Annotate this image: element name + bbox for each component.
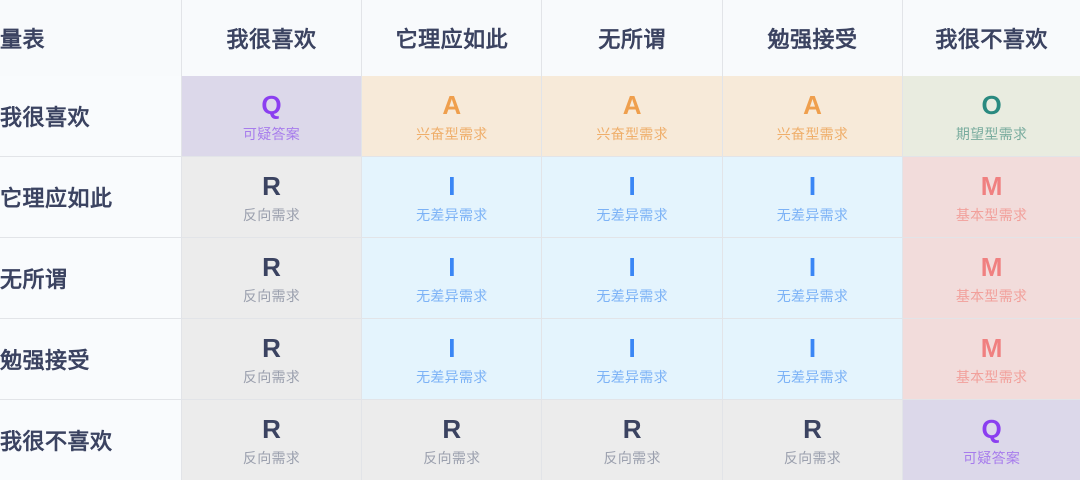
table-body: 我很喜欢Q可疑答案A兴奋型需求A兴奋型需求A兴奋型需求O期望型需求它理应如此R反… bbox=[0, 76, 1080, 480]
column-header-2: 它理应如此 bbox=[362, 0, 542, 76]
matrix-cell-r3-c2: I无差异需求 bbox=[362, 238, 542, 319]
matrix-cell-r2-c5: M基本型需求 bbox=[903, 157, 1080, 238]
category-letter: R bbox=[803, 416, 822, 442]
category-description: 无差异需求 bbox=[596, 208, 668, 222]
category-letter: M bbox=[981, 254, 1003, 280]
category-description: 反向需求 bbox=[423, 451, 480, 465]
cell-content: M基本型需求 bbox=[903, 319, 1080, 399]
category-description: 无差异需求 bbox=[777, 370, 849, 384]
table-row: 勉强接受R反向需求I无差异需求I无差异需求I无差异需求M基本型需求 bbox=[0, 319, 1080, 400]
matrix-cell-r3-c5: M基本型需求 bbox=[903, 238, 1080, 319]
matrix-cell-r3-c4: I无差异需求 bbox=[722, 238, 902, 319]
column-header-5: 我很不喜欢 bbox=[903, 0, 1080, 76]
category-letter: M bbox=[981, 173, 1003, 199]
category-description: 反向需求 bbox=[243, 370, 300, 384]
category-letter: R bbox=[262, 173, 281, 199]
category-letter: A bbox=[803, 92, 822, 118]
row-header-3: 无所谓 bbox=[0, 238, 181, 319]
cell-content: I无差异需求 bbox=[542, 157, 721, 237]
cell-content: I无差异需求 bbox=[362, 157, 541, 237]
category-description: 无差异需求 bbox=[777, 289, 849, 303]
row-header-5: 我很不喜欢 bbox=[0, 400, 181, 480]
matrix-cell-r3-c3: I无差异需求 bbox=[542, 238, 722, 319]
category-description: 无差异需求 bbox=[777, 208, 849, 222]
cell-content: A兴奋型需求 bbox=[723, 76, 902, 156]
matrix-cell-r5-c5: Q可疑答案 bbox=[903, 400, 1080, 480]
category-letter: O bbox=[981, 92, 1001, 118]
cell-content: R反向需求 bbox=[182, 238, 361, 318]
cell-content: A兴奋型需求 bbox=[362, 76, 541, 156]
category-description: 基本型需求 bbox=[956, 208, 1028, 222]
category-letter: Q bbox=[261, 92, 281, 118]
matrix-cell-r1-c1: Q可疑答案 bbox=[181, 76, 361, 157]
matrix-cell-r2-c3: I无差异需求 bbox=[542, 157, 722, 238]
table-corner-label: 量表 bbox=[0, 0, 181, 76]
category-letter: R bbox=[262, 335, 281, 361]
cell-content: R反向需求 bbox=[182, 157, 361, 237]
category-letter: R bbox=[262, 254, 281, 280]
cell-content: Q可疑答案 bbox=[182, 76, 361, 156]
category-letter: M bbox=[981, 335, 1003, 361]
category-description: 无差异需求 bbox=[416, 370, 488, 384]
category-letter: I bbox=[448, 335, 455, 361]
category-description: 反向需求 bbox=[243, 289, 300, 303]
matrix-cell-r2-c2: I无差异需求 bbox=[362, 157, 542, 238]
header-row: 量表 我很喜欢 它理应如此 无所谓 勉强接受 我很不喜欢 bbox=[0, 0, 1080, 76]
row-header-4: 勉强接受 bbox=[0, 319, 181, 400]
matrix-cell-r1-c2: A兴奋型需求 bbox=[362, 76, 542, 157]
category-letter: R bbox=[262, 416, 281, 442]
category-description: 兴奋型需求 bbox=[416, 127, 488, 141]
column-header-4: 勉强接受 bbox=[722, 0, 902, 76]
category-description: 可疑答案 bbox=[243, 127, 300, 141]
cell-content: I无差异需求 bbox=[542, 238, 721, 318]
cell-content: M基本型需求 bbox=[903, 157, 1080, 237]
row-header-1: 我很喜欢 bbox=[0, 76, 181, 157]
cell-content: I无差异需求 bbox=[723, 157, 902, 237]
category-letter: Q bbox=[981, 416, 1001, 442]
category-description: 反向需求 bbox=[784, 451, 841, 465]
matrix-cell-r2-c1: R反向需求 bbox=[181, 157, 361, 238]
matrix-cell-r4-c5: M基本型需求 bbox=[903, 319, 1080, 400]
category-letter: I bbox=[448, 254, 455, 280]
category-letter: A bbox=[442, 92, 461, 118]
column-header-3: 无所谓 bbox=[542, 0, 722, 76]
cell-content: O期望型需求 bbox=[903, 76, 1080, 156]
table-row: 我很喜欢Q可疑答案A兴奋型需求A兴奋型需求A兴奋型需求O期望型需求 bbox=[0, 76, 1080, 157]
matrix-cell-r1-c3: A兴奋型需求 bbox=[542, 76, 722, 157]
table-header: 量表 我很喜欢 它理应如此 无所谓 勉强接受 我很不喜欢 bbox=[0, 0, 1080, 76]
category-letter: I bbox=[448, 173, 455, 199]
cell-content: I无差异需求 bbox=[723, 238, 902, 318]
matrix-cell-r1-c4: A兴奋型需求 bbox=[722, 76, 902, 157]
category-description: 无差异需求 bbox=[596, 289, 668, 303]
table-row: 无所谓R反向需求I无差异需求I无差异需求I无差异需求M基本型需求 bbox=[0, 238, 1080, 319]
matrix-cell-r5-c1: R反向需求 bbox=[181, 400, 361, 480]
category-description: 基本型需求 bbox=[956, 289, 1028, 303]
table-row: 我很不喜欢R反向需求R反向需求R反向需求R反向需求Q可疑答案 bbox=[0, 400, 1080, 480]
matrix-cell-r5-c2: R反向需求 bbox=[362, 400, 542, 480]
category-letter: I bbox=[809, 335, 816, 361]
category-letter: I bbox=[629, 335, 636, 361]
cell-content: Q可疑答案 bbox=[903, 400, 1080, 480]
cell-content: R反向需求 bbox=[542, 400, 721, 480]
category-description: 无差异需求 bbox=[596, 370, 668, 384]
cell-content: R反向需求 bbox=[182, 319, 361, 399]
category-letter: I bbox=[809, 173, 816, 199]
cell-content: I无差异需求 bbox=[362, 319, 541, 399]
category-letter: I bbox=[629, 254, 636, 280]
category-description: 兴奋型需求 bbox=[596, 127, 668, 141]
matrix-cell-r5-c4: R反向需求 bbox=[722, 400, 902, 480]
category-description: 无差异需求 bbox=[416, 289, 488, 303]
category-letter: I bbox=[809, 254, 816, 280]
category-description: 兴奋型需求 bbox=[777, 127, 849, 141]
category-description: 无差异需求 bbox=[416, 208, 488, 222]
category-description: 可疑答案 bbox=[963, 451, 1020, 465]
category-letter: R bbox=[442, 416, 461, 442]
cell-content: I无差异需求 bbox=[542, 319, 721, 399]
matrix-cell-r4-c2: I无差异需求 bbox=[362, 319, 542, 400]
cell-content: I无差异需求 bbox=[362, 238, 541, 318]
category-description: 反向需求 bbox=[243, 208, 300, 222]
category-letter: I bbox=[629, 173, 636, 199]
column-header-1: 我很喜欢 bbox=[181, 0, 361, 76]
category-letter: R bbox=[623, 416, 642, 442]
row-header-2: 它理应如此 bbox=[0, 157, 181, 238]
category-description: 反向需求 bbox=[243, 451, 300, 465]
category-description: 期望型需求 bbox=[956, 127, 1028, 141]
kano-evaluation-table: 量表 我很喜欢 它理应如此 无所谓 勉强接受 我很不喜欢 我很喜欢Q可疑答案A兴… bbox=[0, 0, 1080, 480]
category-description: 基本型需求 bbox=[956, 370, 1028, 384]
category-description: 反向需求 bbox=[604, 451, 661, 465]
matrix-cell-r4-c4: I无差异需求 bbox=[722, 319, 902, 400]
matrix-cell-r2-c4: I无差异需求 bbox=[722, 157, 902, 238]
matrix-cell-r4-c3: I无差异需求 bbox=[542, 319, 722, 400]
table-row: 它理应如此R反向需求I无差异需求I无差异需求I无差异需求M基本型需求 bbox=[0, 157, 1080, 238]
cell-content: R反向需求 bbox=[182, 400, 361, 480]
cell-content: R反向需求 bbox=[723, 400, 902, 480]
matrix-cell-r5-c3: R反向需求 bbox=[542, 400, 722, 480]
matrix-cell-r4-c1: R反向需求 bbox=[181, 319, 361, 400]
cell-content: M基本型需求 bbox=[903, 238, 1080, 318]
matrix-cell-r1-c5: O期望型需求 bbox=[903, 76, 1080, 157]
cell-content: A兴奋型需求 bbox=[542, 76, 721, 156]
cell-content: R反向需求 bbox=[362, 400, 541, 480]
cell-content: I无差异需求 bbox=[723, 319, 902, 399]
category-letter: A bbox=[623, 92, 642, 118]
matrix-cell-r3-c1: R反向需求 bbox=[181, 238, 361, 319]
